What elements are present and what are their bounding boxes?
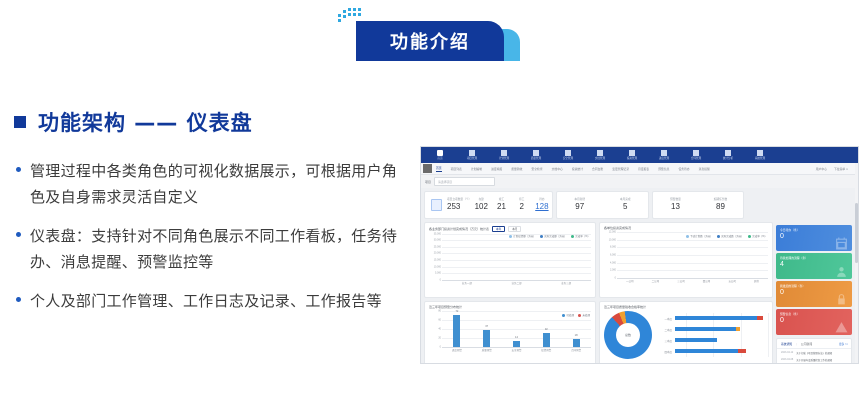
bar-label: 72 bbox=[455, 310, 458, 313]
tab-company-news[interactable]: 公司新闻 bbox=[801, 342, 812, 346]
calendar-icon bbox=[501, 150, 507, 156]
nav-item-statistics[interactable]: 统计分析 bbox=[712, 150, 744, 160]
kpi-value: 253 bbox=[447, 202, 460, 212]
bar: 37 bbox=[483, 330, 490, 347]
x-tick: 三公司 bbox=[677, 278, 685, 283]
sub-tab-strip: 首页 项目列表 计划编制 进度填报 质量验收 安全检查 文档中心 投资统计 合同… bbox=[421, 163, 858, 175]
bar-series bbox=[442, 234, 591, 280]
tab-alerts[interactable]: 预警信息 bbox=[658, 167, 669, 171]
chart-panel-dept-investment: 各业务部门投资计划完成情况（万元）统计表 本年 本月 计划投资额（万元） 实际完… bbox=[424, 222, 596, 298]
y-axis: 80 60 40 20 0 bbox=[429, 311, 442, 347]
y-tick: 0 bbox=[440, 279, 441, 282]
kpi-value: 102 bbox=[475, 202, 488, 212]
y-tick: 8,000 bbox=[610, 246, 616, 249]
kpi-row: 项目立项数量（个） 253 在建 102 竣工 21 停工 2 待办 128 bbox=[421, 188, 858, 219]
kpi-cell: 本月新增 97 bbox=[557, 198, 603, 212]
chart-title: 近三年项目预警分布统计 bbox=[429, 305, 462, 309]
kpi-cell: 项目立项数量（个） 253 bbox=[447, 198, 471, 212]
nav-label: 统计分析 bbox=[723, 157, 733, 160]
document-icon bbox=[431, 199, 442, 211]
tab-progress-report[interactable]: 进度填报 bbox=[491, 167, 502, 171]
tab-separator: | bbox=[796, 342, 797, 346]
nav-label: 首页 bbox=[437, 157, 442, 160]
list-item-title: 关于印发《项目管理办法》的通知 bbox=[796, 351, 832, 355]
tab-contract-ledger[interactable]: 合同台账 bbox=[592, 167, 603, 171]
chart-plot: 12,000 10,000 8,000 6,000 4,000 2,000 0 bbox=[604, 232, 768, 288]
x-axis: 进度预警 质量预警 安全预警 投资预警 合同预警 bbox=[442, 347, 591, 357]
nav-label: 质量管理 bbox=[531, 157, 541, 160]
nav-label: 项目管理 bbox=[467, 157, 477, 160]
lock-icon bbox=[835, 293, 848, 306]
nav-label: 合同管理 bbox=[691, 157, 701, 160]
tab-monthly-report[interactable]: 月度报表 bbox=[638, 167, 649, 171]
y-tick: 35,000 bbox=[434, 233, 441, 236]
kpi-value: 97 bbox=[575, 202, 584, 212]
kpi-cell: 本月完成 5 bbox=[603, 198, 649, 212]
bullet-text: 仪表盘：支持针对不同角色展示不同工作看板，任务待办、消息提醒、预警监控等 bbox=[30, 223, 412, 275]
donut-center: 总数 bbox=[616, 323, 640, 347]
tab-todo[interactable]: 任务待办 bbox=[678, 167, 689, 171]
kpi-card-projects[interactable]: 项目立项数量（个） 253 在建 102 竣工 21 停工 2 待办 128 bbox=[424, 191, 553, 219]
bar-series: 72 37 14 32 18 bbox=[442, 311, 591, 347]
y-axis: 12,000 10,000 8,000 6,000 4,000 2,000 0 bbox=[604, 232, 617, 278]
notification-tabs: 系统通知 | 公司新闻 更多 >> bbox=[777, 339, 851, 349]
title-banner: 功能介绍 bbox=[356, 21, 504, 61]
tab-system-notice[interactable]: 系统通知 bbox=[781, 342, 792, 346]
kpi-cell: 待办 128 bbox=[532, 198, 552, 212]
notification-panel: 系统通知 | 公司新闻 更多 >> 2023-04-12 关于印发《项目管理办法… bbox=[776, 338, 852, 364]
nav-label: 投资管理 bbox=[627, 157, 637, 160]
home-icon bbox=[437, 150, 443, 156]
chart-icon bbox=[629, 150, 635, 156]
x-tick: 业务二部 bbox=[511, 280, 521, 285]
kpi-value: 89 bbox=[716, 202, 725, 212]
bar-label: 32 bbox=[545, 328, 548, 331]
bar-series bbox=[617, 232, 768, 278]
chart-plot: 80 60 40 20 0 bbox=[429, 311, 591, 357]
grid-icon bbox=[469, 150, 475, 156]
nav-item-document[interactable]: 文档管理 bbox=[584, 150, 616, 160]
nav-label: 系统管理 bbox=[755, 157, 765, 160]
kpi-cell: 停工 2 bbox=[512, 198, 532, 212]
tab-change-records[interactable]: 变更管理记录 bbox=[612, 167, 629, 171]
heading-text: 功能架构 —— 仪表盘 bbox=[38, 107, 253, 137]
contract-icon bbox=[693, 150, 699, 156]
x-tick: 四公司 bbox=[703, 278, 711, 283]
hbar-row: 二季度 bbox=[658, 324, 768, 335]
bullet-text: 个人及部门工作管理、工作日志及记录、工作报告等 bbox=[30, 288, 382, 314]
y-tick: 4,000 bbox=[610, 261, 616, 264]
x-tick: 质量预警 bbox=[482, 347, 492, 352]
kpi-value: 2 bbox=[519, 202, 523, 212]
tab-user-center[interactable]: 用户中心 bbox=[816, 167, 827, 171]
list-item-title: 关于开展年度质量检查工作的通知 bbox=[796, 358, 832, 362]
chart-title: 近三年项目质量验收合格率统计 bbox=[600, 302, 772, 309]
list-item-date: 2023-04-12 bbox=[781, 351, 793, 354]
hbar-label: 二季度 bbox=[658, 328, 672, 332]
nav-label: 安全管理 bbox=[563, 157, 573, 160]
tab-quality-accept[interactable]: 质量验收 bbox=[511, 167, 522, 171]
chart-title: 各业务部门投资计划完成情况（万元）统计表 bbox=[429, 227, 489, 231]
hbar-row: 三季度 bbox=[658, 335, 768, 346]
tile-my-workflow[interactable]: 待我处理的流程（条） 4 bbox=[776, 253, 852, 279]
list-item[interactable]: 2023-04-08 关于开展年度质量检查工作的通知 bbox=[777, 356, 851, 363]
bar-label: 37 bbox=[485, 325, 488, 328]
right-rail: 今日待办（条） 0 待我处理的流程（条） 4 我发起的流程（条） 0 bbox=[776, 222, 855, 364]
y-tick: 5,000 bbox=[435, 272, 441, 275]
x-axis: 一公司 二公司 三公司 四公司 五公司 其他 bbox=[617, 278, 768, 288]
x-tick: 进度预警 bbox=[452, 347, 462, 352]
bar-label: 18 bbox=[575, 334, 578, 337]
chart-panel-alert-distribution: 近三年项目预警分布统计 已处理 未处理 80 60 40 20 bbox=[424, 301, 596, 364]
kpi-value: 21 bbox=[497, 202, 506, 212]
y-tick: 6,000 bbox=[610, 254, 616, 257]
hbar-cap bbox=[736, 327, 740, 331]
nav-label: 计划管理 bbox=[499, 157, 509, 160]
y-tick: 10,000 bbox=[609, 238, 616, 241]
slide: 功能介绍 功能架构 —— 仪表盘 管理过程中各类角色的可视化数据展示，可根据用户… bbox=[0, 0, 859, 419]
x-tick: 合同预警 bbox=[571, 347, 581, 352]
x-tick: 五公司 bbox=[728, 278, 736, 283]
chip-year[interactable]: 本年 bbox=[492, 226, 505, 232]
x-tick: 业务一部 bbox=[462, 280, 472, 285]
hbar bbox=[675, 349, 738, 353]
charts-column: 各业务部门投资计划完成情况（万元）统计表 本年 本月 计划投资额（万元） 实际完… bbox=[424, 222, 773, 364]
tab-doc-center[interactable]: 文档中心 bbox=[552, 167, 563, 171]
y-tick: 20 bbox=[438, 337, 441, 340]
y-tick: 15,000 bbox=[434, 259, 441, 262]
x-tick: 一公司 bbox=[626, 278, 634, 283]
y-tick: 60 bbox=[438, 319, 441, 322]
app-logo bbox=[423, 164, 432, 173]
kpi-cell: 竣工 21 bbox=[491, 198, 511, 212]
donut-center-label: 总数 bbox=[625, 333, 631, 337]
bullet-list: 管理过程中各类角色的可视化数据展示，可根据用户角色及自身需求灵活自定义 仪表盘：… bbox=[12, 158, 412, 327]
x-tick: 业务三部 bbox=[561, 280, 571, 285]
tab-project-list[interactable]: 项目列表 bbox=[451, 167, 462, 171]
tile-alerts[interactable]: 预警信息（条） 0 bbox=[776, 309, 852, 335]
y-tick: 30,000 bbox=[434, 239, 441, 242]
hbar-cap bbox=[738, 349, 745, 353]
kpi-card-alerts[interactable]: 预警数量 13 超期任务数 89 bbox=[652, 191, 744, 219]
bullet-dot-icon bbox=[16, 232, 21, 237]
y-tick: 12,000 bbox=[609, 231, 616, 234]
kpi-cell: 超期任务数 89 bbox=[698, 198, 743, 212]
tab-plan-edit[interactable]: 计划编制 bbox=[471, 167, 482, 171]
y-tick: 40 bbox=[438, 328, 441, 331]
nav-item-project[interactable]: 项目管理 bbox=[456, 150, 488, 160]
kpi-value: 5 bbox=[623, 202, 627, 212]
project-select[interactable]: 请选择项目 bbox=[434, 177, 495, 186]
list-item: 仪表盘：支持针对不同角色展示不同工作看板，任务待办、消息提醒、预警监控等 bbox=[12, 223, 412, 275]
nav-label: 文档管理 bbox=[595, 157, 605, 160]
shield-icon bbox=[533, 150, 539, 156]
hbar bbox=[675, 338, 717, 342]
y-tick: 20,000 bbox=[434, 252, 441, 255]
x-tick: 二公司 bbox=[652, 278, 660, 283]
y-tick: 10,000 bbox=[434, 265, 441, 268]
kpi-cell: 预警数量 13 bbox=[653, 198, 698, 212]
dashboard-screenshot: 首页 项目管理 计划管理 质量管理 安全管理 文档管理 bbox=[420, 146, 859, 364]
calendar-icon bbox=[835, 237, 848, 250]
clock-icon bbox=[661, 150, 667, 156]
list-item: 管理过程中各类角色的可视化数据展示，可根据用户角色及自身需求灵活自定义 bbox=[12, 158, 412, 210]
chart-panel-unit-investment: 各单位投资完成情况 下达计划数（万元） 实际完成数（万元） 完成率（%） 12,… bbox=[599, 222, 773, 298]
hbar-row: 四季度 bbox=[658, 346, 768, 357]
y-axis: 35,000 30,000 25,000 20,000 15,000 10,00… bbox=[429, 234, 442, 280]
x-axis: 业务一部 业务二部 业务三部 bbox=[442, 280, 591, 290]
donut-and-bars: 总数 一季度 bbox=[600, 309, 772, 359]
hbar-label: 三季度 bbox=[658, 339, 672, 343]
nav-item-progress[interactable]: 进度管理 bbox=[648, 150, 680, 160]
square-bullet-icon bbox=[14, 116, 26, 128]
alert-icon bbox=[835, 321, 848, 334]
chip-month[interactable]: 本月 bbox=[508, 226, 521, 232]
nav-item-quality[interactable]: 质量管理 bbox=[520, 150, 552, 160]
list-item-date: 2023-04-08 bbox=[781, 358, 793, 361]
scrollbar-track[interactable] bbox=[855, 163, 858, 363]
kpi-card-monthly[interactable]: 本月新增 97 本月完成 5 bbox=[556, 191, 649, 219]
kpi-value: 13 bbox=[671, 202, 680, 212]
chart-title: 各单位投资完成情况 bbox=[604, 226, 631, 230]
tile-initiated-workflow[interactable]: 我发起的流程（条） 0 bbox=[776, 281, 852, 307]
horizontal-bar-chart: 一季度 二季度 三季度 bbox=[658, 313, 768, 357]
tab-investment-stats[interactable]: 投资统计 bbox=[572, 167, 583, 171]
x-tick: 其他 bbox=[754, 278, 759, 283]
subnav-more-menu[interactable]: 下拉菜单 ∨ bbox=[834, 167, 848, 171]
tab-notifications[interactable]: 消息提醒 bbox=[699, 167, 710, 171]
bar-label: 14 bbox=[515, 336, 518, 339]
donut-chart: 总数 bbox=[604, 311, 652, 359]
top-navigation: 首页 项目管理 计划管理 质量管理 安全管理 文档管理 bbox=[421, 147, 858, 163]
nav-item-home[interactable]: 首页 bbox=[424, 150, 456, 160]
person-icon bbox=[565, 150, 571, 156]
list-item[interactable]: 2023-03-29 关于组织系统操作培训的通知 bbox=[777, 363, 851, 364]
nav-item-contract[interactable]: 合同管理 bbox=[680, 150, 712, 160]
nav-item-plan[interactable]: 计划管理 bbox=[488, 150, 520, 160]
hbar bbox=[675, 316, 757, 320]
x-tick: 安全预警 bbox=[511, 347, 521, 352]
hbar-row: 一季度 bbox=[658, 313, 768, 324]
y-tick: 25,000 bbox=[434, 245, 441, 248]
y-tick: 2,000 bbox=[610, 269, 616, 272]
more-link[interactable]: 更多 >> bbox=[839, 342, 848, 346]
nav-item-system[interactable]: 系统管理 bbox=[744, 150, 776, 160]
panels-area: 各业务部门投资计划完成情况（万元）统计表 本年 本月 计划投资额（万元） 实际完… bbox=[421, 219, 858, 364]
chart-plot: 35,000 30,000 25,000 20,000 15,000 10,00… bbox=[429, 234, 591, 290]
hbar-cap bbox=[757, 316, 764, 320]
banner-title: 功能介绍 bbox=[390, 28, 470, 54]
bullet-dot-icon bbox=[16, 167, 21, 172]
kpi-cell: 在建 102 bbox=[471, 198, 491, 212]
project-select-placeholder: 请选择项目 bbox=[438, 180, 452, 184]
table-icon bbox=[725, 150, 731, 156]
filter-label: 项目 bbox=[425, 180, 431, 184]
nav-item-investment[interactable]: 投资管理 bbox=[616, 150, 648, 160]
filter-bar: 项目 请选择项目 bbox=[421, 175, 858, 188]
bar: 18 bbox=[573, 339, 580, 347]
tile-today-todo[interactable]: 今日待办（条） 0 bbox=[776, 225, 852, 251]
person-icon bbox=[835, 265, 848, 278]
y-tick: 0 bbox=[440, 346, 441, 349]
hbar bbox=[675, 327, 736, 331]
section-heading: 功能架构 —— 仪表盘 bbox=[14, 107, 253, 137]
bar: 72 bbox=[453, 315, 460, 347]
x-tick: 投资预警 bbox=[541, 347, 551, 352]
list-item[interactable]: 2023-04-12 关于印发《项目管理办法》的通知 bbox=[777, 349, 851, 356]
bullet-dot-icon bbox=[16, 297, 21, 302]
file-icon bbox=[597, 150, 603, 156]
list-item: 个人及部门工作管理、工作日志及记录、工作报告等 bbox=[12, 288, 412, 314]
y-tick: 80 bbox=[438, 310, 441, 313]
tab-safety-check[interactable]: 安全检查 bbox=[531, 167, 542, 171]
scrollbar-thumb[interactable] bbox=[855, 203, 858, 263]
y-tick: 0 bbox=[615, 277, 616, 280]
gear-icon bbox=[757, 150, 763, 156]
nav-item-safety[interactable]: 安全管理 bbox=[552, 150, 584, 160]
hbar-label: 四季度 bbox=[658, 350, 672, 354]
chart-panel-quality-pass-rate: 近三年项目质量验收合格率统计 总数 bbox=[599, 301, 773, 364]
hbar-label: 一季度 bbox=[658, 317, 672, 321]
bullet-text: 管理过程中各类角色的可视化数据展示，可根据用户角色及自身需求灵活自定义 bbox=[30, 158, 412, 210]
nav-label: 进度管理 bbox=[659, 157, 669, 160]
tab-home[interactable]: 首页 bbox=[436, 166, 442, 172]
bar: 32 bbox=[543, 333, 550, 347]
kpi-value-link[interactable]: 128 bbox=[535, 202, 548, 212]
